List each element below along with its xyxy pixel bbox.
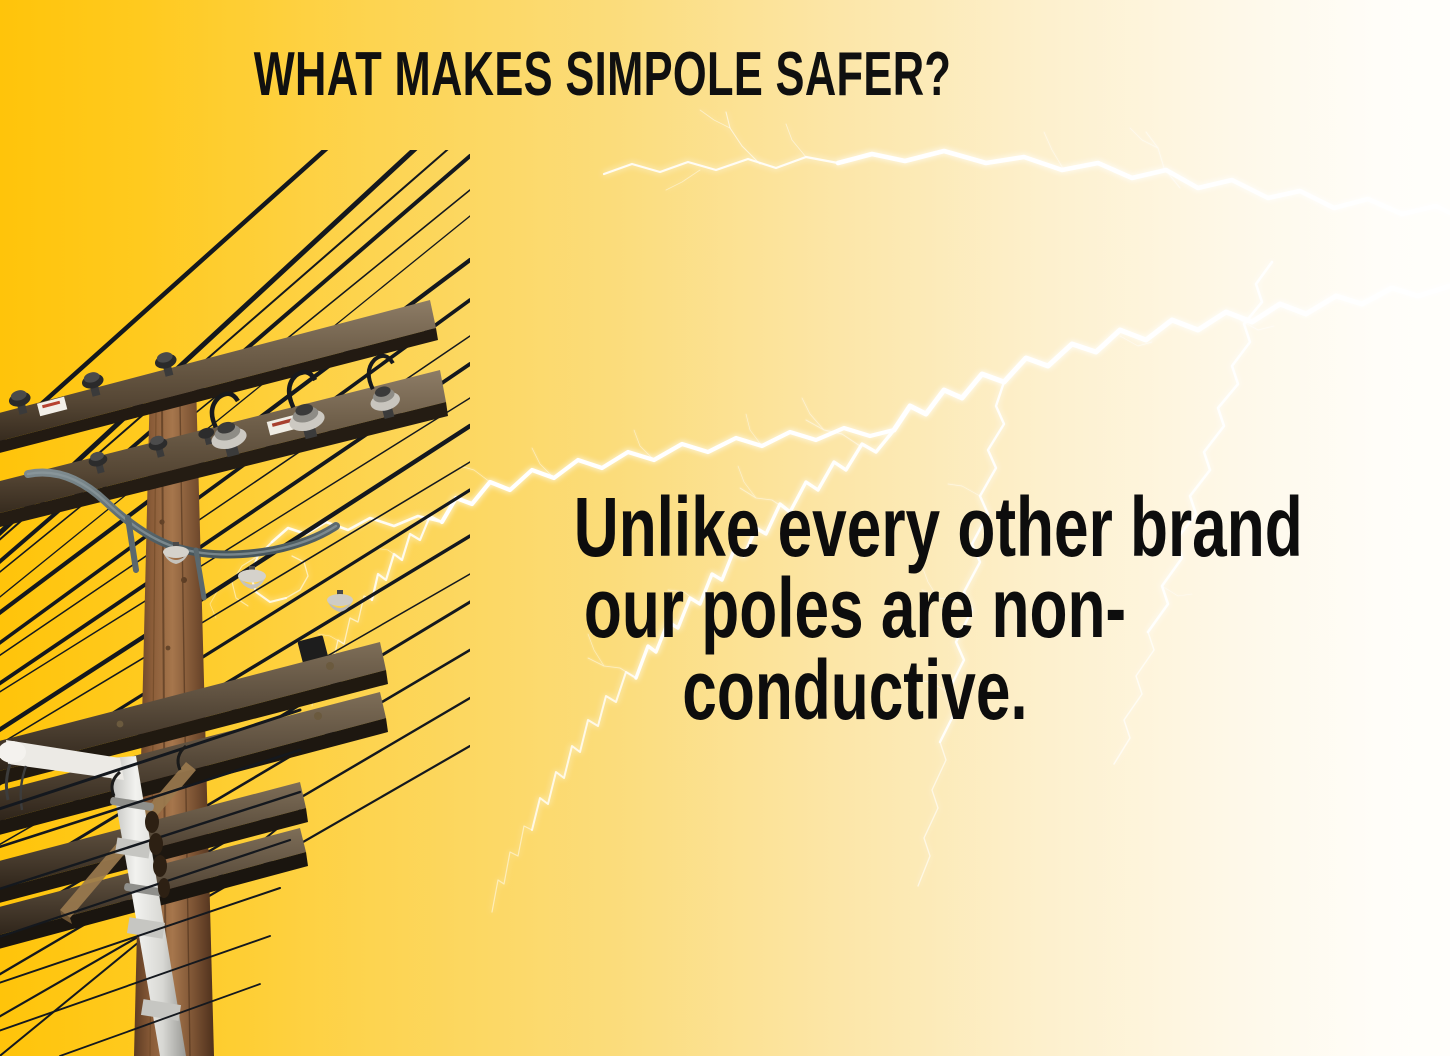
body-line-3: conductive. bbox=[574, 650, 1136, 731]
body-line-2: our poles are non- bbox=[574, 568, 1136, 649]
page-title: WHAT MAKES SIMPOLE SAFER? bbox=[218, 44, 1233, 106]
body-line-1: Unlike every other brand bbox=[574, 487, 1136, 568]
body-copy: Unlike every other brand our poles are n… bbox=[574, 487, 1136, 731]
utility-pole-photo bbox=[0, 150, 470, 1056]
poster-canvas: WHAT MAKES SIMPOLE SAFER? Unlike every o… bbox=[0, 0, 1450, 1056]
